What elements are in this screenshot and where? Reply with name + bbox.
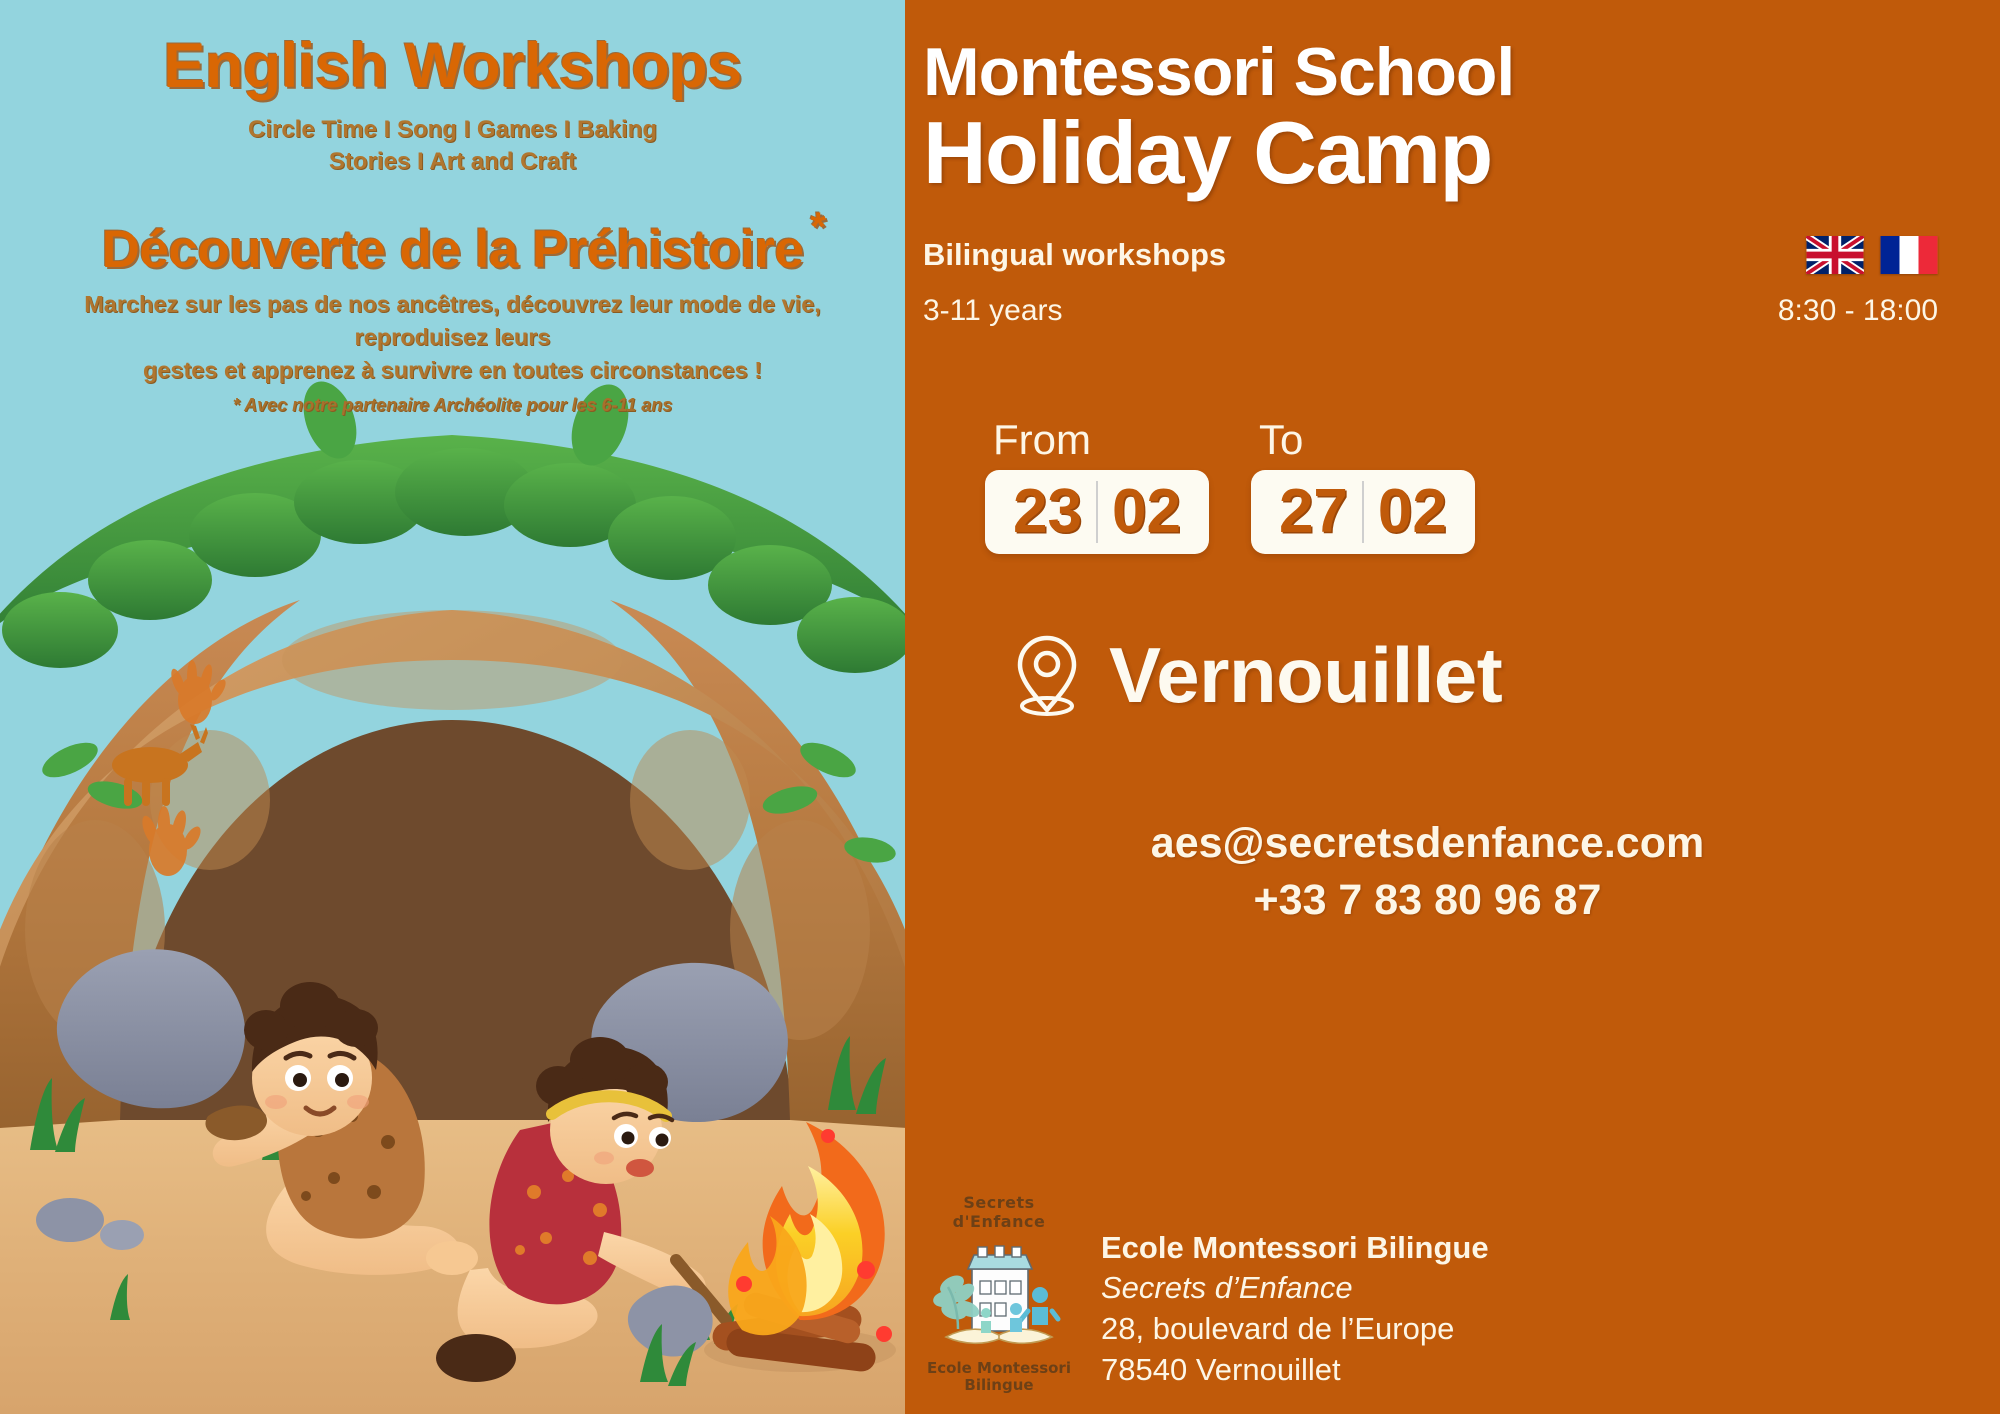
opening-hours: 8:30 - 18:00 [1778, 294, 1938, 328]
girl-shoe [436, 1334, 516, 1382]
from-month: 02 [1098, 481, 1195, 543]
left-panel: English Workshops Circle Time I Song I G… [0, 0, 905, 1414]
contact-phone[interactable]: +33 7 83 80 96 87 [923, 876, 1932, 925]
map-pin-icon [1011, 632, 1083, 718]
camp-title-line-1: Montessori School [923, 38, 1972, 106]
logo-bottom-line-2: Bilingue [923, 1377, 1075, 1394]
bilingual-label: Bilingual workshops [923, 237, 1226, 273]
prehistory-heading: Découverte de la Préhistoire * [102, 219, 804, 280]
school-logo: Secrets d'Enfance [923, 1193, 1075, 1395]
to-month: 02 [1364, 481, 1461, 543]
prehistory-body: Marchez sur les pas de nos ancêtres, déc… [0, 288, 905, 387]
date-to: To 27 02 [1251, 416, 1475, 554]
school-name: Ecole Montessori Bilingue [1101, 1230, 1489, 1266]
flags-group [1806, 236, 1938, 274]
from-date-box: 23 02 [985, 470, 1209, 554]
camp-title-line-2: Holiday Camp [923, 108, 1972, 198]
logo-bottom-text: Ecole Montessori Bilingue [923, 1360, 1075, 1395]
to-day: 27 [1265, 481, 1362, 543]
subtitle-line-1: Circle Time I Song I Games I Baking [0, 114, 905, 146]
prehistory-heading-text: Découverte de la Préhistoire [102, 220, 804, 279]
france-flag-icon [1880, 236, 1938, 274]
poster: English Workshops Circle Time I Song I G… [0, 0, 2000, 1414]
uk-flag-icon [1806, 236, 1864, 274]
age-hours-row: 3-11 years 8:30 - 18:00 [923, 294, 1972, 328]
to-date-box: 27 02 [1251, 470, 1475, 554]
small-stone-a [36, 1198, 104, 1242]
right-panel: Montessori School Holiday Camp Bilingual… [905, 0, 2000, 1414]
footer-block: Secrets d'Enfance [923, 1193, 1489, 1395]
cave-scene-svg [0, 330, 905, 1414]
dates-block: From 23 02 To 27 02 [923, 416, 1972, 554]
contact-block: aes@secretsdenfance.com +33 7 83 80 96 8… [923, 819, 1972, 925]
campfire [628, 1122, 896, 1373]
logo-top-text: Secrets d'Enfance [923, 1193, 1075, 1231]
age-range: 3-11 years [923, 294, 1063, 328]
from-day: 23 [999, 481, 1096, 543]
location-name: Vernouillet [1109, 630, 1502, 721]
contact-email[interactable]: aes@secretsdenfance.com [923, 819, 1932, 868]
to-label: To [1251, 416, 1475, 464]
from-label: From [985, 416, 1209, 464]
body-line-2: gestes et apprenez à survivre en toutes … [18, 354, 887, 387]
school-subtitle: Secrets d’Enfance [1101, 1270, 1489, 1306]
left-text-block: English Workshops Circle Time I Song I G… [0, 0, 905, 416]
body-line-1: Marchez sur les pas de nos ancêtres, déc… [18, 288, 887, 354]
date-from: From 23 02 [985, 416, 1209, 554]
english-workshops-heading: English Workshops [0, 30, 905, 102]
logo-illustration [924, 1233, 1074, 1353]
address-line-1: 28, boulevard de l’Europe [1101, 1311, 1489, 1347]
location-row: Vernouillet [923, 630, 1972, 721]
cave-illustration [0, 330, 905, 1414]
bilingual-row: Bilingual workshops [923, 236, 1972, 274]
logo-bottom-line-1: Ecole Montessori [923, 1360, 1075, 1377]
subtitle-line-2: Stories I Art and Craft [0, 146, 905, 178]
school-address: Ecole Montessori Bilingue Secrets d’Enfa… [1101, 1230, 1489, 1394]
address-line-2: 78540 Vernouillet [1101, 1352, 1489, 1388]
small-stone-b [100, 1220, 144, 1250]
english-workshops-subtitle: Circle Time I Song I Games I Baking Stor… [0, 114, 905, 179]
partner-note: * Avec notre partenaire Archéolite pour … [0, 395, 905, 416]
prehistory-heading-asterisk: * [810, 205, 825, 250]
